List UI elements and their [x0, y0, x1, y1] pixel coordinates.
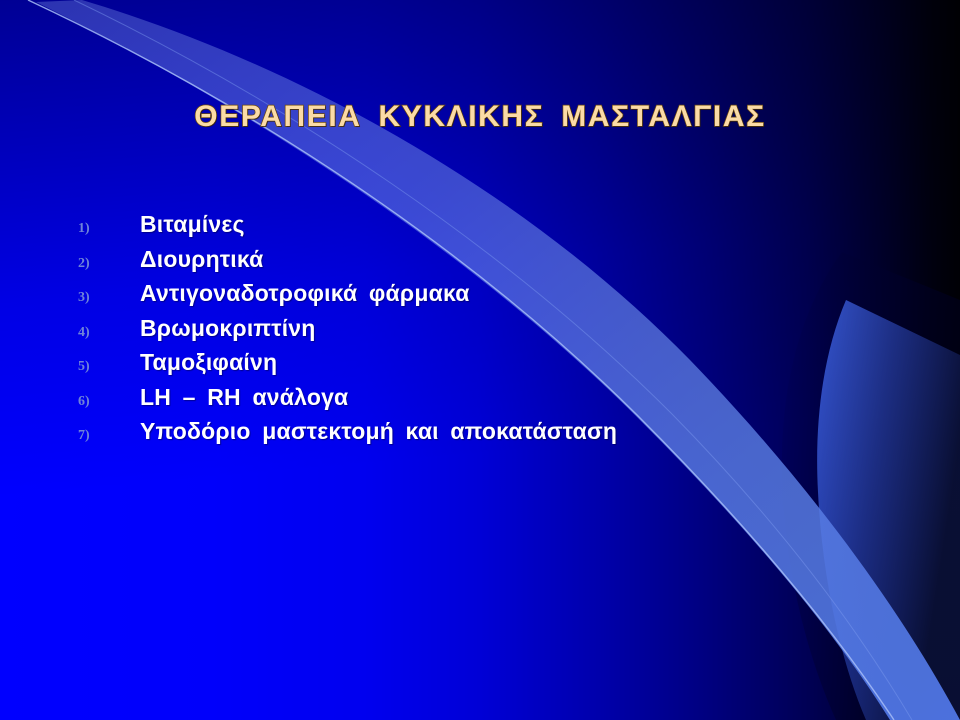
numbered-list: 1) Βιταμίνες 2) Διουρητικά 3) Αντιγοναδο… [78, 211, 898, 453]
list-item: 1) Βιταμίνες [78, 211, 898, 246]
list-item-text: Ταμοξιφαίνη [140, 349, 277, 376]
list-item-text: Αντιγοναδοτροφικά φάρμακα [140, 280, 470, 307]
list-item-text: LH – RH ανάλογα [140, 384, 348, 411]
list-item: 3) Αντιγοναδοτροφικά φάρμακα [78, 280, 898, 315]
list-item-number: 3) [78, 291, 140, 305]
list-item-number: 5) [78, 360, 140, 374]
list-item-text: Διουρητικά [140, 246, 264, 273]
list-item: 4) Βρωμοκριπτίνη [78, 315, 898, 350]
list-item-number: 6) [78, 395, 140, 409]
presentation-slide: ΘΕΡΑΠΕΙΑ ΚΥΚΛΙΚΗΣ ΜΑΣΤΑΛΓΙΑΣ 1) Βιταμίνε… [0, 0, 960, 720]
list-item: 2) Διουρητικά [78, 246, 898, 281]
list-item-text: Βιταμίνες [140, 211, 245, 238]
list-item-number: 4) [78, 326, 140, 340]
list-item-number: 7) [78, 429, 140, 443]
list-item-text: Βρωμοκριπτίνη [140, 315, 316, 342]
list-item: 7) Υποδόριο μαστεκτομή και αποκατάσταση [78, 418, 898, 453]
list-item-number: 1) [78, 222, 140, 236]
list-item-text: Υποδόριο μαστεκτομή και αποκατάσταση [140, 418, 617, 445]
list-item-number: 2) [78, 257, 140, 271]
list-item: 6) LH – RH ανάλογα [78, 384, 898, 419]
list-item: 5) Ταμοξιφαίνη [78, 349, 898, 384]
